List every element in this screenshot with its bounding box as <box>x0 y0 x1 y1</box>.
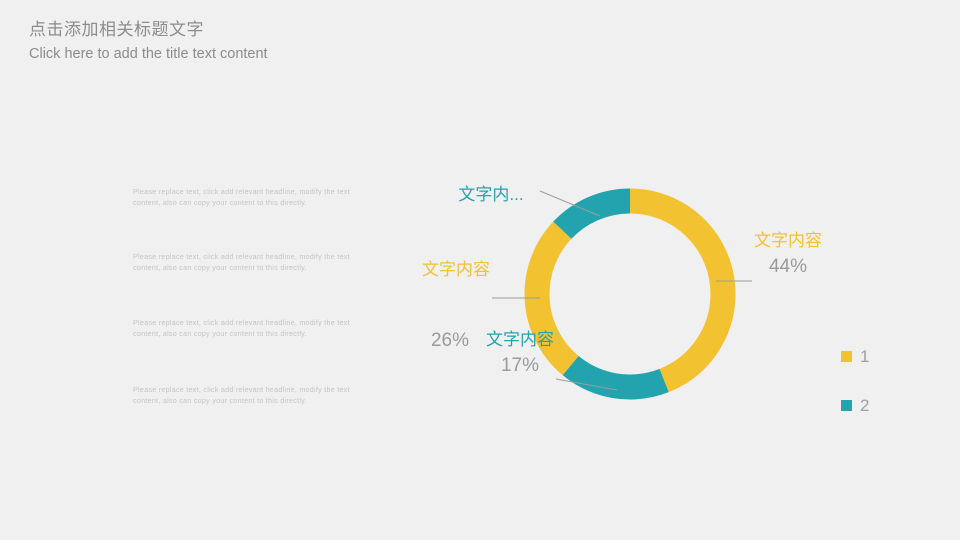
donut-chart: 文字内... 文字内容 26% 文字内容 17% 文字内容 44% 1 2 <box>0 0 960 540</box>
leader-line-bottom-left <box>556 379 617 390</box>
legend-swatch-2-icon <box>841 400 852 411</box>
legend-label-2: 2 <box>860 397 869 414</box>
callout-name-bottom-left: 文字内容 <box>472 327 568 353</box>
callout-name-left: 文字内容 <box>400 257 512 283</box>
callout-pct-left: 26% <box>420 330 480 352</box>
callout-label-right: 文字内容 44% <box>735 228 841 280</box>
callout-label-top-left: 文字内... <box>432 182 550 208</box>
legend-item-1[interactable]: 1 <box>841 332 869 381</box>
chart-legend: 1 2 <box>841 332 869 430</box>
callout-name-top-left: 文字内... <box>432 182 550 208</box>
slide-canvas: 点击添加相关标题文字 Click here to add the title t… <box>0 0 960 540</box>
callout-label-left: 文字内容 <box>400 257 512 283</box>
legend-item-2[interactable]: 2 <box>841 381 869 430</box>
callout-pct-right: 44% <box>735 254 841 280</box>
legend-swatch-1-icon <box>841 351 852 362</box>
callout-pct-bottom-left: 17% <box>472 353 568 379</box>
legend-label-1: 1 <box>860 348 869 365</box>
callout-label-bottom-left: 文字内容 17% <box>472 327 568 379</box>
callout-name-right: 文字内容 <box>735 228 841 254</box>
